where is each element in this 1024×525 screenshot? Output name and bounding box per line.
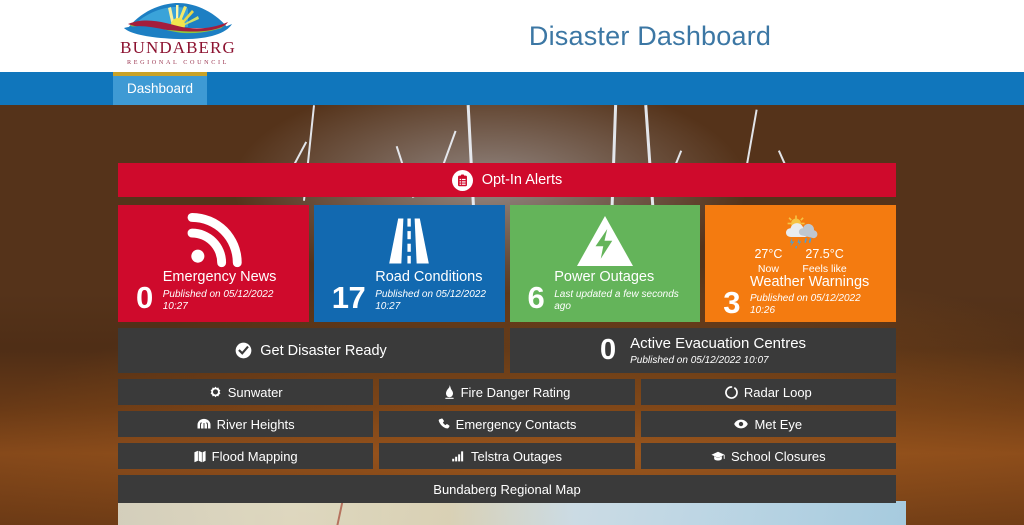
link-label: Flood Mapping xyxy=(212,449,298,464)
dashboard-content: Opt-In Alerts 0 Emergency News Publi xyxy=(118,163,896,503)
link-fire-danger-rating[interactable]: Fire Danger Rating xyxy=(379,379,634,405)
tile-emergency-news[interactable]: 0 Emergency News Published on 05/12/2022… xyxy=(118,205,309,322)
link-label: Fire Danger Rating xyxy=(461,385,571,400)
tile-meta: Published on 05/12/2022 10:27 xyxy=(375,289,496,313)
temp-feels-value: 27.5°C xyxy=(802,247,846,263)
link-flood-mapping[interactable]: Flood Mapping xyxy=(118,443,373,469)
get-disaster-ready-button[interactable]: Get Disaster Ready xyxy=(118,328,504,373)
tile-meta: Last updated a few seconds ago xyxy=(554,289,692,313)
map-icon xyxy=(194,450,206,463)
evacuation-label: Active Evacuation Centres xyxy=(630,335,806,352)
status-tiles: 0 Emergency News Published on 05/12/2022… xyxy=(118,205,896,322)
link-label: Met Eye xyxy=(754,417,802,432)
tile-meta: Published on 05/12/2022 10:27 xyxy=(163,289,301,313)
main-navigation: Dashboard xyxy=(0,72,1024,105)
tile-count: 17 xyxy=(322,284,365,313)
link-river-heights[interactable]: River Heights xyxy=(118,411,373,437)
tile-meta: Published on 05/12/2022 10:26 xyxy=(750,293,888,317)
rss-feed-icon xyxy=(126,213,301,269)
bundaberg-regional-map-button[interactable]: Bundaberg Regional Map xyxy=(118,475,896,503)
map-button-label: Bundaberg Regional Map xyxy=(433,482,580,497)
link-label: Telstra Outages xyxy=(471,449,562,464)
link-school-closures[interactable]: School Closures xyxy=(641,443,896,469)
get-disaster-ready-label: Get Disaster Ready xyxy=(260,343,387,359)
tile-count: 0 xyxy=(126,284,153,313)
link-label: Radar Loop xyxy=(744,385,812,400)
link-radar-loop[interactable]: Radar Loop xyxy=(641,379,896,405)
clipboard-list-icon xyxy=(452,170,473,191)
dashboard-stage: Opt-In Alerts 0 Emergency News Publi xyxy=(0,105,1024,525)
link-emergency-contacts[interactable]: Emergency Contacts xyxy=(379,411,634,437)
evacuation-count: 0 xyxy=(600,336,616,365)
graduation-cap-icon xyxy=(711,451,725,462)
link-label: Sunwater xyxy=(228,385,283,400)
quick-links-grid: Sunwater Fire Danger Rating Radar L xyxy=(118,379,896,469)
tile-count: 6 xyxy=(518,284,545,313)
link-telstra-outages[interactable]: Telstra Outages xyxy=(379,443,634,469)
active-evacuation-centres-button[interactable]: 0 Active Evacuation Centres Published on… xyxy=(510,328,896,373)
temp-now: 27°C Now xyxy=(754,247,782,276)
circle-notch-icon xyxy=(725,386,738,399)
wide-button-row: Get Disaster Ready 0 Active Evacuation C… xyxy=(118,328,896,373)
page-header: BUNDABERG REGIONAL COUNCIL Disaster Dash… xyxy=(0,0,1024,72)
bridge-icon xyxy=(197,418,211,430)
eye-icon xyxy=(734,419,748,429)
tab-dashboard[interactable]: Dashboard xyxy=(113,72,207,105)
sun-cloud-rain-icon xyxy=(780,215,822,249)
tile-count: 3 xyxy=(713,289,740,318)
evacuation-meta: Published on 05/12/2022 10:07 xyxy=(630,355,806,366)
link-sunwater[interactable]: Sunwater xyxy=(118,379,373,405)
page-title: Disaster Dashboard xyxy=(138,21,1024,52)
weather-temperatures: 27°C Now 27.5°C Feels like xyxy=(754,247,846,276)
link-label: Emergency Contacts xyxy=(456,417,577,432)
road-icon xyxy=(322,213,497,269)
phone-icon xyxy=(438,418,450,430)
tile-label: Emergency News xyxy=(163,269,301,286)
logo-subtitle: REGIONAL COUNCIL xyxy=(127,59,229,66)
link-label: School Closures xyxy=(731,449,826,464)
gear-icon xyxy=(209,386,222,399)
tile-power-outages[interactable]: 6 Power Outages Last updated a few secon… xyxy=(510,205,701,322)
signal-bars-icon xyxy=(452,450,465,462)
tile-weather-warnings[interactable]: 27°C Now 27.5°C Feels like 3 Weather War… xyxy=(705,205,896,322)
electric-hazard-triangle-icon xyxy=(518,213,693,269)
background-map-strip xyxy=(118,501,906,525)
opt-in-alerts-label: Opt-In Alerts xyxy=(482,172,563,188)
tile-road-conditions[interactable]: 17 Road Conditions Published on 05/12/20… xyxy=(314,205,505,322)
tile-label: Road Conditions xyxy=(375,269,496,286)
tile-label: Power Outages xyxy=(554,269,692,286)
link-label: River Heights xyxy=(217,417,295,432)
link-met-eye[interactable]: Met Eye xyxy=(641,411,896,437)
fire-icon xyxy=(444,385,455,399)
check-circle-icon xyxy=(235,342,252,359)
tile-label: Weather Warnings xyxy=(750,274,888,291)
temp-feels-like: 27.5°C Feels like xyxy=(802,247,846,276)
opt-in-alerts-button[interactable]: Opt-In Alerts xyxy=(118,163,896,197)
temp-now-value: 27°C xyxy=(754,247,782,263)
